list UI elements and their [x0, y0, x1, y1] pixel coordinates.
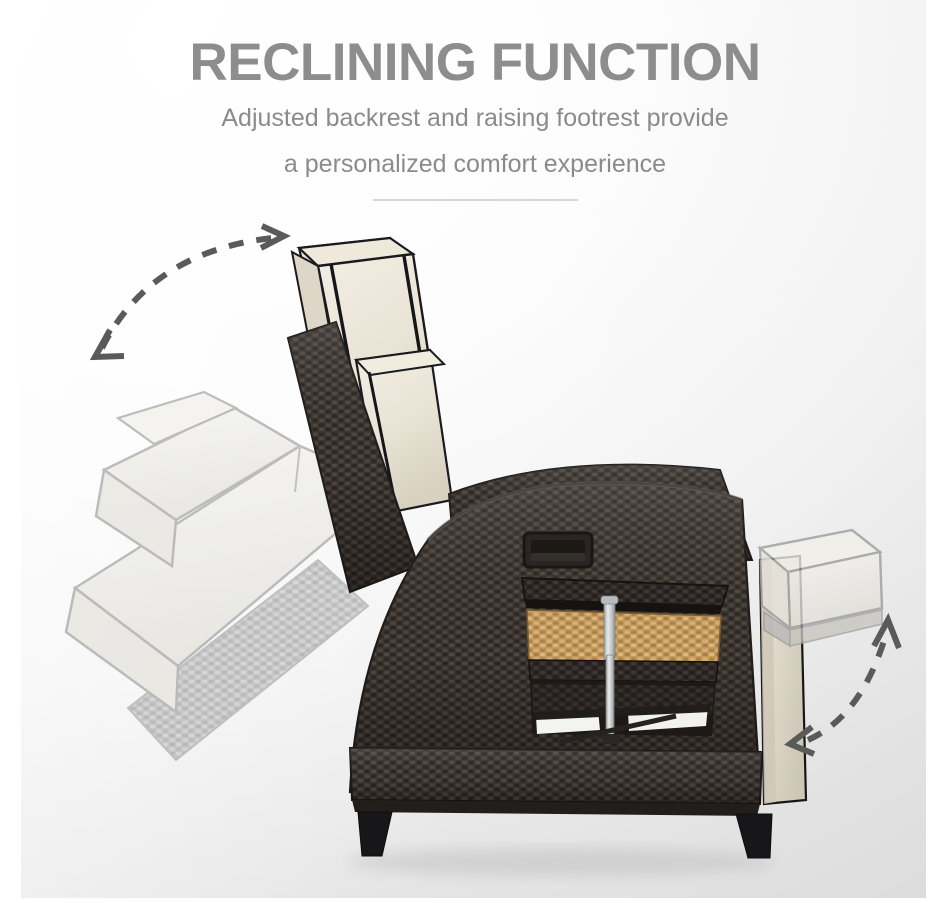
subtitle-line-2: a personalized comfort experience	[0, 136, 950, 182]
feature-image-stage: RECLINING FUNCTION Adjusted backrest and…	[0, 0, 950, 903]
page-title: RECLINING FUNCTION	[0, 0, 950, 90]
header-block: RECLINING FUNCTION Adjusted backrest and…	[0, 0, 950, 201]
header-divider	[373, 199, 578, 201]
subtitle-line-1: Adjusted backrest and raising footrest p…	[0, 90, 950, 136]
